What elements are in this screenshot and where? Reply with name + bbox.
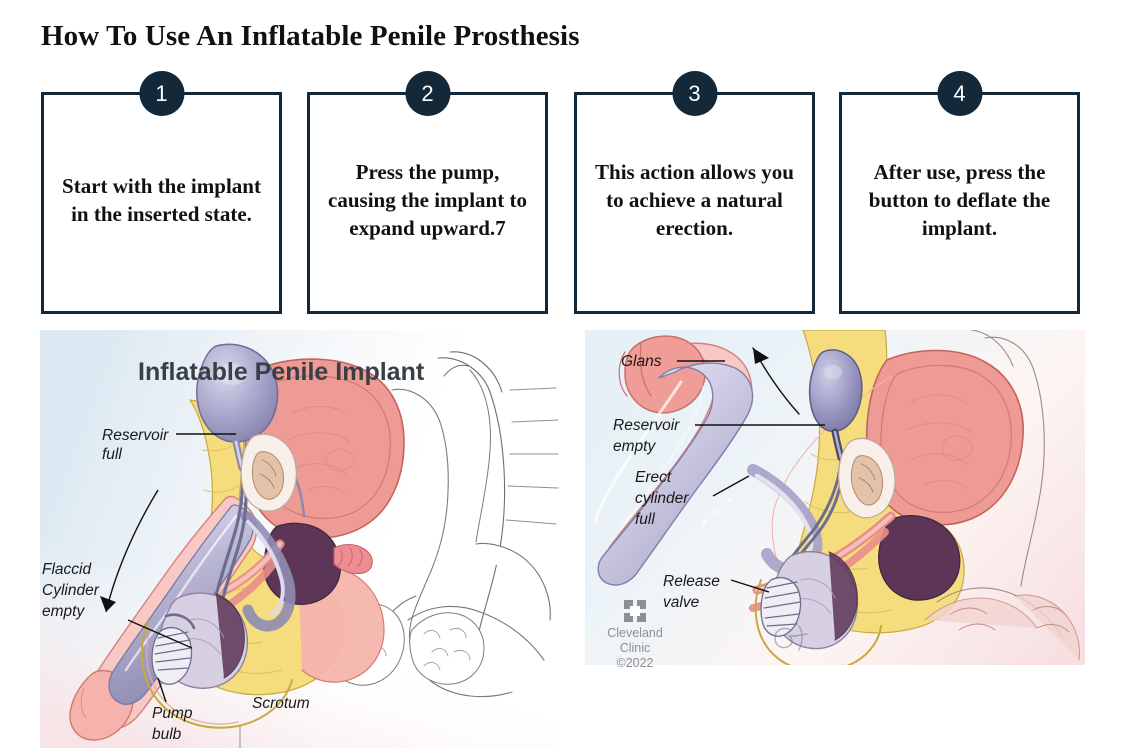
step-box-3: 3 This action allows you to achieve a na…: [574, 92, 815, 314]
label-flaccid-line3: empty: [42, 603, 85, 620]
step-badge-1: 1: [139, 71, 184, 116]
label-flaccid-line2: Cylinder: [42, 582, 100, 599]
illustrations-area: Inflatable Penile Implant Reservoir full…: [0, 330, 1124, 748]
illustration-flaccid: Inflatable Penile Implant Reservoir full…: [40, 330, 560, 748]
label-scrotum: Scrotum: [252, 695, 310, 712]
label-valve-line1: Release: [663, 573, 720, 590]
label-pump-line2: bulb: [152, 726, 182, 743]
infographic-page: How To Use An Inflatable Penile Prosthes…: [0, 0, 1124, 748]
credit-line-3: ©2022: [600, 656, 670, 671]
illustration-heading-left: Inflatable Penile Implant: [138, 358, 425, 386]
label-reservoir-full-line2: full: [102, 446, 122, 463]
label-reservoir-empty-line2: empty: [613, 438, 656, 455]
step-text-1: Start with the implant in the inserted s…: [44, 172, 279, 228]
label-scrotum-text: Scrotum: [252, 695, 310, 712]
steps-row: 1 Start with the implant in the inserted…: [41, 92, 1080, 314]
label-reservoir-empty-line1: Reservoir: [613, 417, 680, 434]
page-title: How To Use An Inflatable Penile Prosthes…: [41, 20, 580, 53]
label-erect-line1: Erect: [635, 469, 672, 486]
label-pump-line1: Pump: [152, 705, 193, 722]
cleveland-clinic-logo-icon: [624, 600, 646, 622]
step-badge-3: 3: [672, 71, 717, 116]
label-erect-line3: full: [635, 511, 655, 528]
label-glans-text: Glans: [621, 353, 662, 370]
credit-line-1: Cleveland: [600, 626, 670, 641]
step-box-1: 1 Start with the implant in the inserted…: [41, 92, 282, 314]
label-flaccid-line1: Flaccid: [42, 561, 92, 578]
flaccid-anatomy-svg: Inflatable Penile Implant Reservoir full…: [40, 330, 560, 748]
label-erect-line2: cylinder: [635, 490, 689, 507]
step-badge-4: 4: [937, 71, 982, 116]
credit-line-2: Clinic: [600, 641, 670, 656]
step-text-3: This action allows you to achieve a natu…: [577, 158, 812, 242]
cleveland-clinic-credit: Cleveland Clinic ©2022: [600, 600, 670, 671]
step-box-4: 4 After use, press the button to deflate…: [839, 92, 1080, 314]
step-text-4: After use, press the button to deflate t…: [842, 158, 1077, 242]
step-badge-2: 2: [405, 71, 450, 116]
step-text-2: Press the pump, causing the implant to e…: [310, 158, 545, 242]
step-box-2: 2 Press the pump, causing the implant to…: [307, 92, 548, 314]
label-reservoir-full-line1: Reservoir: [102, 427, 169, 444]
